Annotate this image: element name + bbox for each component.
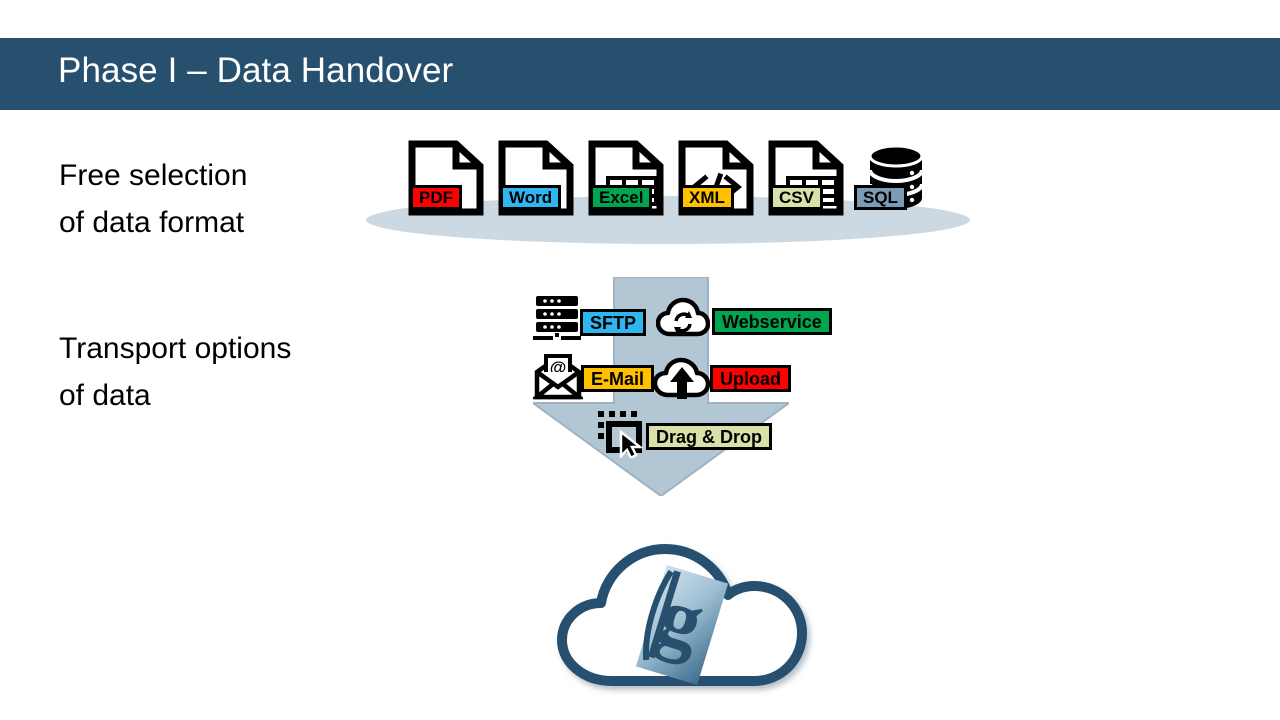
transport-badge-upload[interactable]: Upload [710,365,791,392]
format-badge-excel[interactable]: Excel [590,185,652,210]
transport-badge-sftp[interactable]: SFTP [580,309,646,336]
format-item-xml[interactable]: XML [674,140,766,216]
format-badge-xml[interactable]: XML [680,185,734,210]
format-item-excel[interactable]: Excel [584,140,676,216]
slide-canvas: Phase I – Data Handover Free selection o… [0,0,1280,720]
format-item-csv[interactable]: CSV [764,140,856,216]
cloud-sync-icon [656,297,710,344]
format-badge-word[interactable]: Word [500,185,561,210]
format-item-sql[interactable]: SQL [854,140,946,216]
transport-badge-drag-drop[interactable]: Drag & Drop [646,423,772,450]
format-item-word[interactable]: Word [494,140,586,216]
drag-drop-cursor-icon [595,408,651,463]
page-title: Phase I – Data Handover [58,51,453,91]
email-envelope-icon: @ [533,354,583,405]
caption-transport-options: Transport options of data [59,325,291,419]
format-badge-sql[interactable]: SQL [854,185,907,210]
transport-badge-webservice[interactable]: Webservice [712,308,832,335]
server-rack-icon [531,294,583,345]
caption-data-format: Free selection of data format [59,152,247,246]
format-badge-pdf[interactable]: PDF [410,185,462,210]
transport-badge-email[interactable]: E-Mail [581,365,654,392]
format-item-pdf[interactable]: PDF [404,140,496,216]
format-badge-csv[interactable]: CSV [770,185,823,210]
cloud-platform-logo: g [534,533,834,713]
cloud-upload-icon [653,357,711,406]
